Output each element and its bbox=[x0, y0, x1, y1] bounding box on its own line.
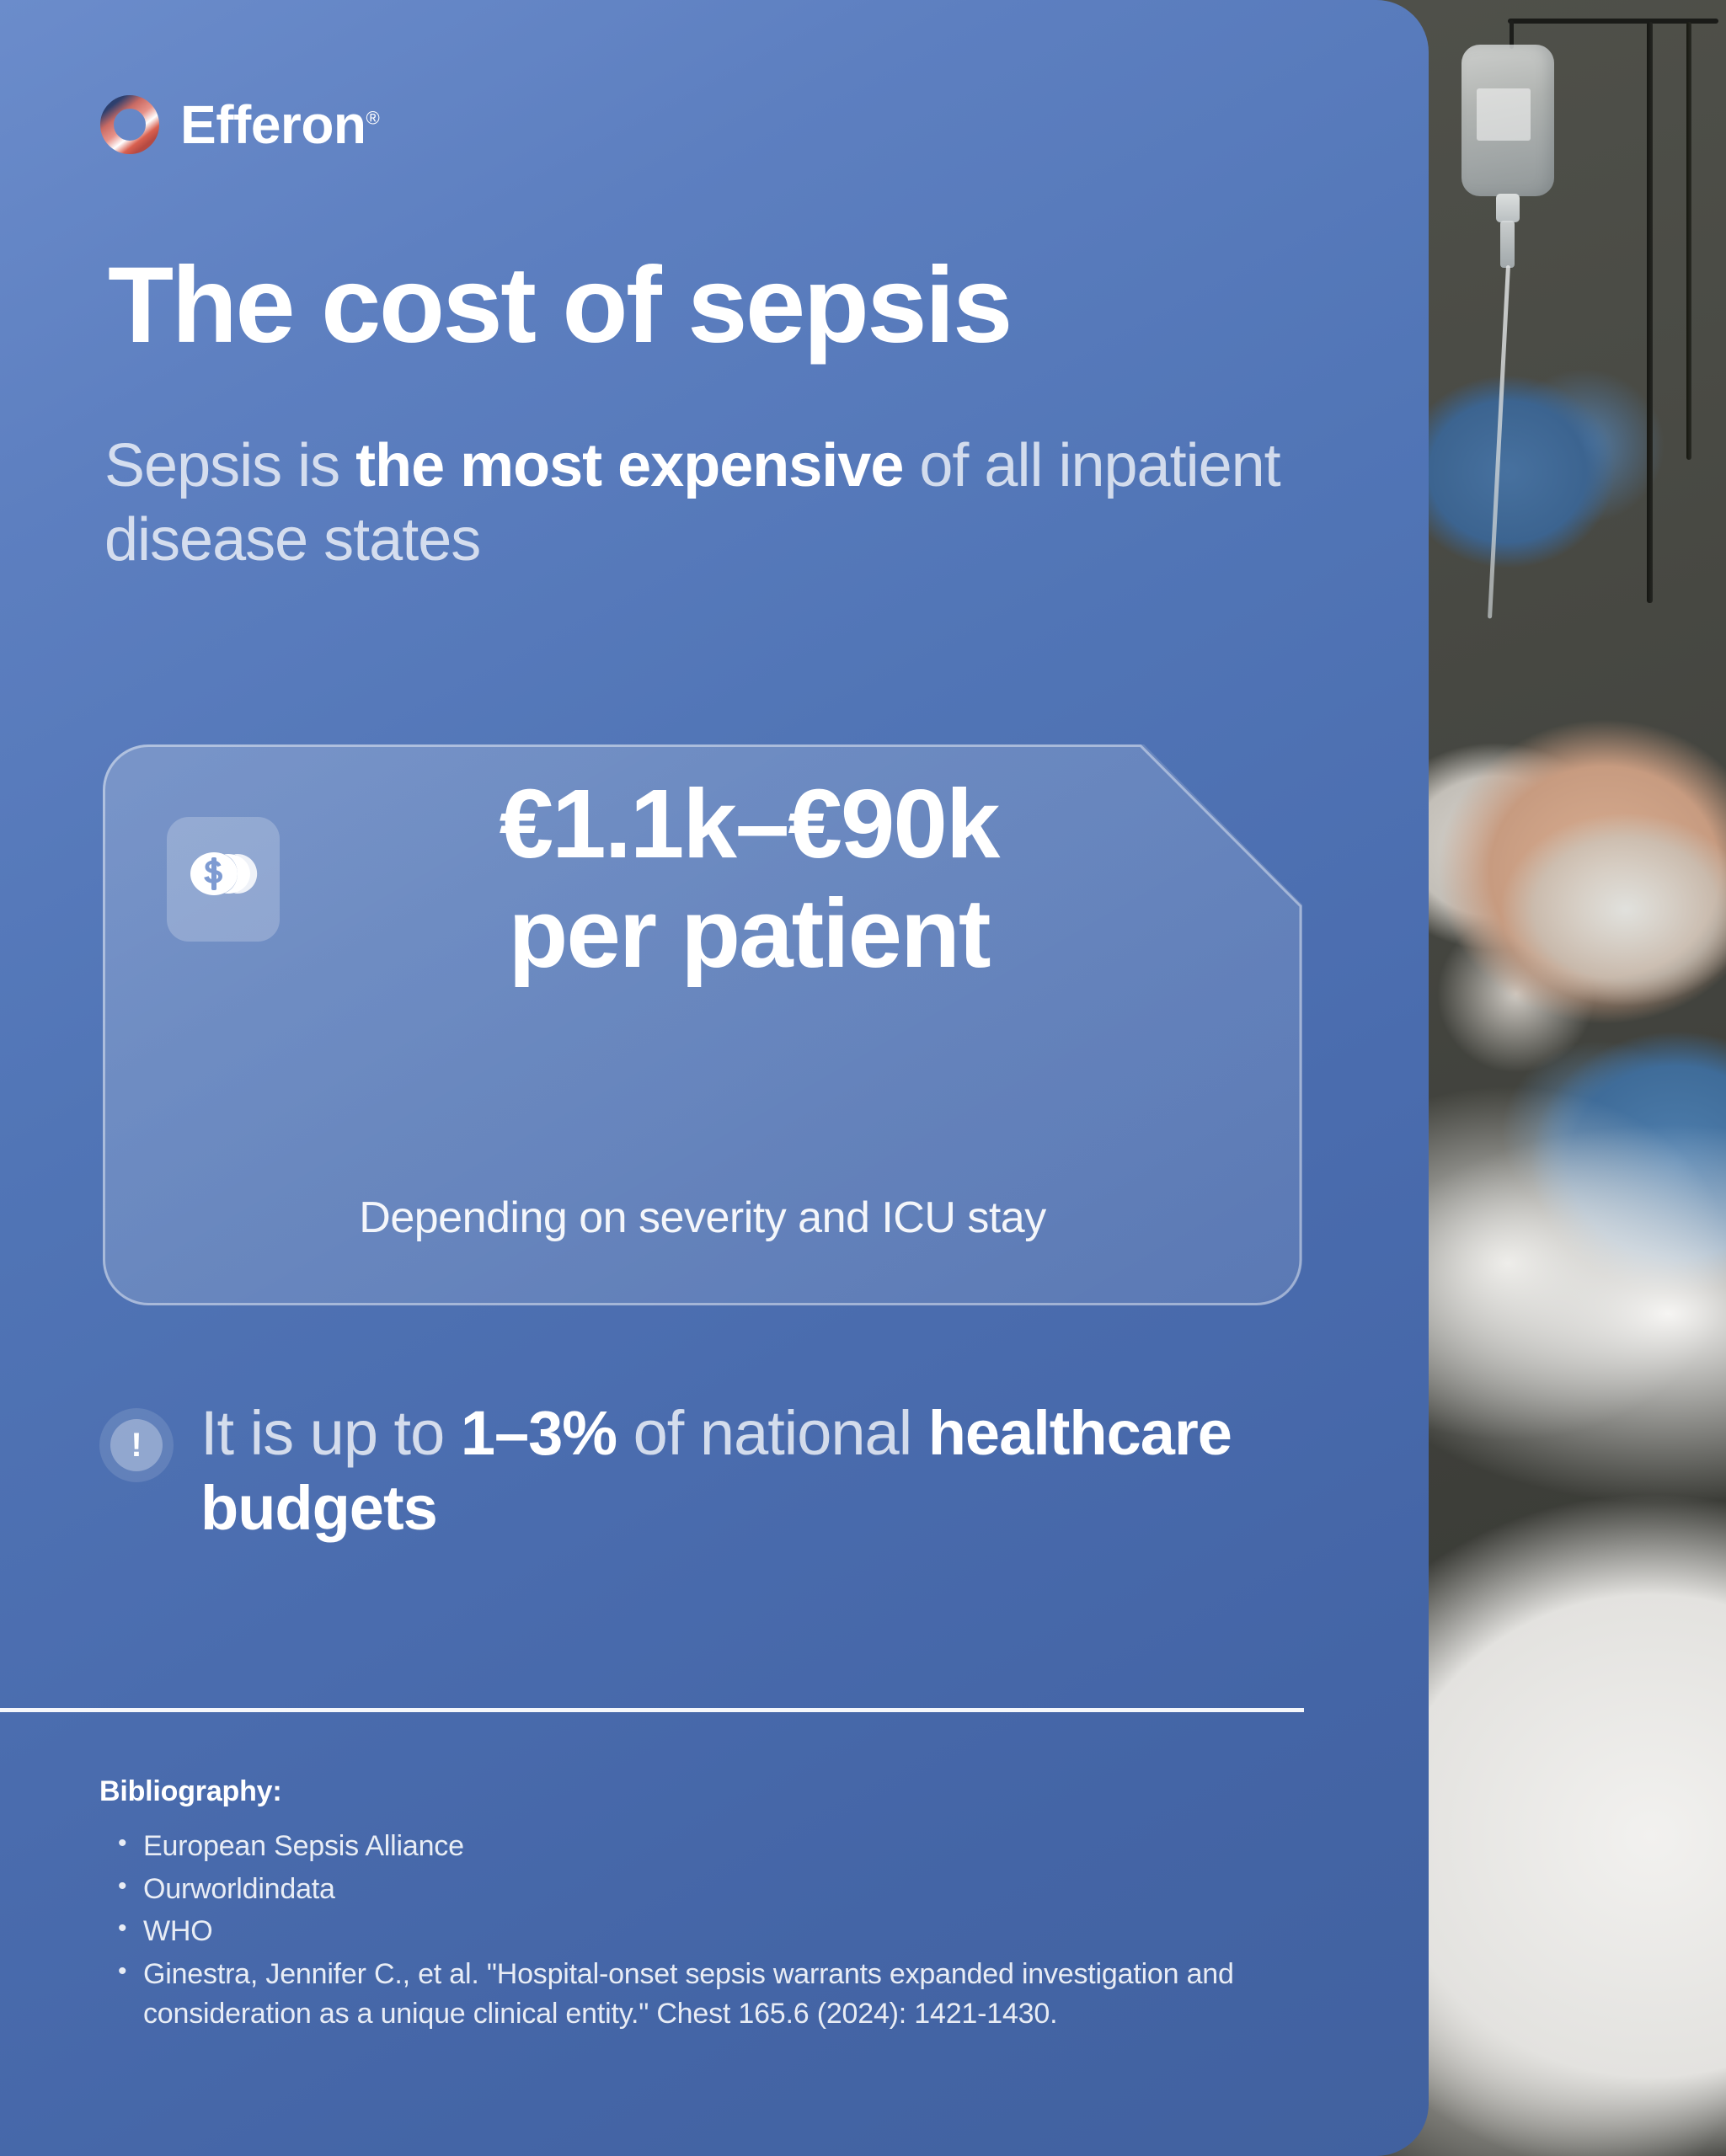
subtitle-emphasis: the most expensive bbox=[355, 432, 903, 499]
list-item: Ourworldindata bbox=[99, 1870, 1329, 1910]
list-item: Ginestra, Jennifer C., et al. "Hospital-… bbox=[99, 1955, 1329, 2035]
callout-mid: of national bbox=[617, 1398, 928, 1468]
content-panel: Efferon® The cost of sepsis Sepsis is th… bbox=[0, 0, 1429, 2156]
cost-card-note: Depending on severity and ICU stay bbox=[103, 1193, 1302, 1243]
subtitle-lead: Sepsis is bbox=[104, 432, 355, 499]
bibliography-list: European Sepsis Alliance Ourworldindata … bbox=[99, 1827, 1329, 2035]
brand-logo: Efferon® bbox=[99, 94, 379, 155]
budget-callout: ! It is up to 1–3% of national healthcar… bbox=[99, 1396, 1321, 1546]
cost-amount-range: €1.1k–€90k bbox=[500, 769, 999, 878]
callout-lead: It is up to bbox=[200, 1398, 461, 1468]
cost-amount-unit: per patient bbox=[229, 879, 1269, 989]
brand-name: Efferon® bbox=[180, 98, 379, 152]
callout-emphasis-percent: 1–3% bbox=[461, 1398, 617, 1468]
cost-amount: €1.1k–€90k per patient bbox=[103, 770, 1302, 989]
bibliography: Bibliography: European Sepsis Alliance O… bbox=[99, 1775, 1329, 2037]
iv-pole-vertical-rail-1 bbox=[1647, 22, 1653, 603]
iv-drip-chamber bbox=[1500, 221, 1515, 268]
budget-callout-text: It is up to 1–3% of national healthcare … bbox=[200, 1396, 1321, 1546]
exclamation-glyph: ! bbox=[110, 1419, 163, 1471]
bibliography-title: Bibliography: bbox=[99, 1775, 1329, 1808]
efferon-ring-logo-icon bbox=[99, 94, 160, 155]
list-item: WHO bbox=[99, 1912, 1329, 1952]
iv-bag-neck bbox=[1496, 194, 1520, 222]
iv-pole-vertical-rail-2 bbox=[1686, 22, 1691, 460]
page-title: The cost of sepsis bbox=[108, 251, 1011, 361]
list-item: European Sepsis Alliance bbox=[99, 1827, 1329, 1867]
subtitle: Sepsis is the most expensive of all inpa… bbox=[104, 430, 1334, 578]
cost-card: €1.1k–€90k per patient Depending on seve… bbox=[103, 744, 1302, 1305]
exclamation-circle-icon: ! bbox=[99, 1408, 174, 1482]
registered-mark: ® bbox=[366, 108, 380, 129]
section-divider bbox=[0, 1708, 1304, 1712]
iv-drip-bag bbox=[1461, 45, 1554, 196]
